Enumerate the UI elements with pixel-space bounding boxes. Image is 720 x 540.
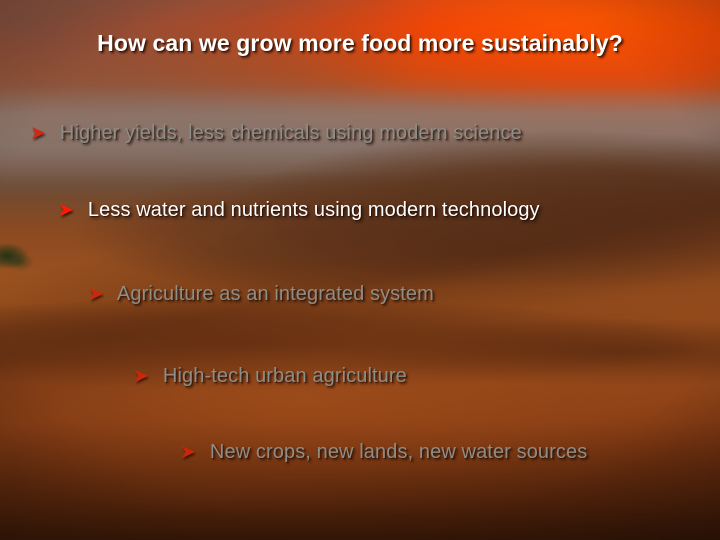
bullet-item-5-label: New crops, new lands, new water sources (210, 441, 587, 464)
bullet-item-1-label: Higher yields, less chemicals using mode… (60, 122, 522, 145)
bullet-item-4-label: High-tech urban agriculture (163, 365, 407, 388)
arrow-bullet-icon: ➤ (30, 124, 46, 143)
arrow-bullet-icon: ➤ (88, 285, 104, 304)
bullet-item-3-label: Agriculture as an integrated system (117, 283, 434, 306)
bullet-item-2-label: Less water and nutrients using modern te… (88, 199, 540, 222)
bullet-item-1: ➤ Higher yields, less chemicals using mo… (30, 122, 522, 145)
slide-content: How can we grow more food more sustainab… (0, 0, 720, 540)
bullet-item-4: ➤ High-tech urban agriculture (133, 365, 407, 388)
bullet-item-5: ➤ New crops, new lands, new water source… (180, 441, 587, 464)
slide-title: How can we grow more food more sustainab… (0, 30, 720, 57)
arrow-bullet-icon: ➤ (133, 367, 149, 386)
arrow-bullet-icon: ➤ (58, 201, 74, 220)
arrow-bullet-icon: ➤ (180, 443, 196, 462)
bullet-item-3: ➤ Agriculture as an integrated system (88, 283, 434, 306)
presentation-slide: How can we grow more food more sustainab… (0, 0, 720, 540)
bullet-item-2: ➤ Less water and nutrients using modern … (58, 199, 540, 222)
